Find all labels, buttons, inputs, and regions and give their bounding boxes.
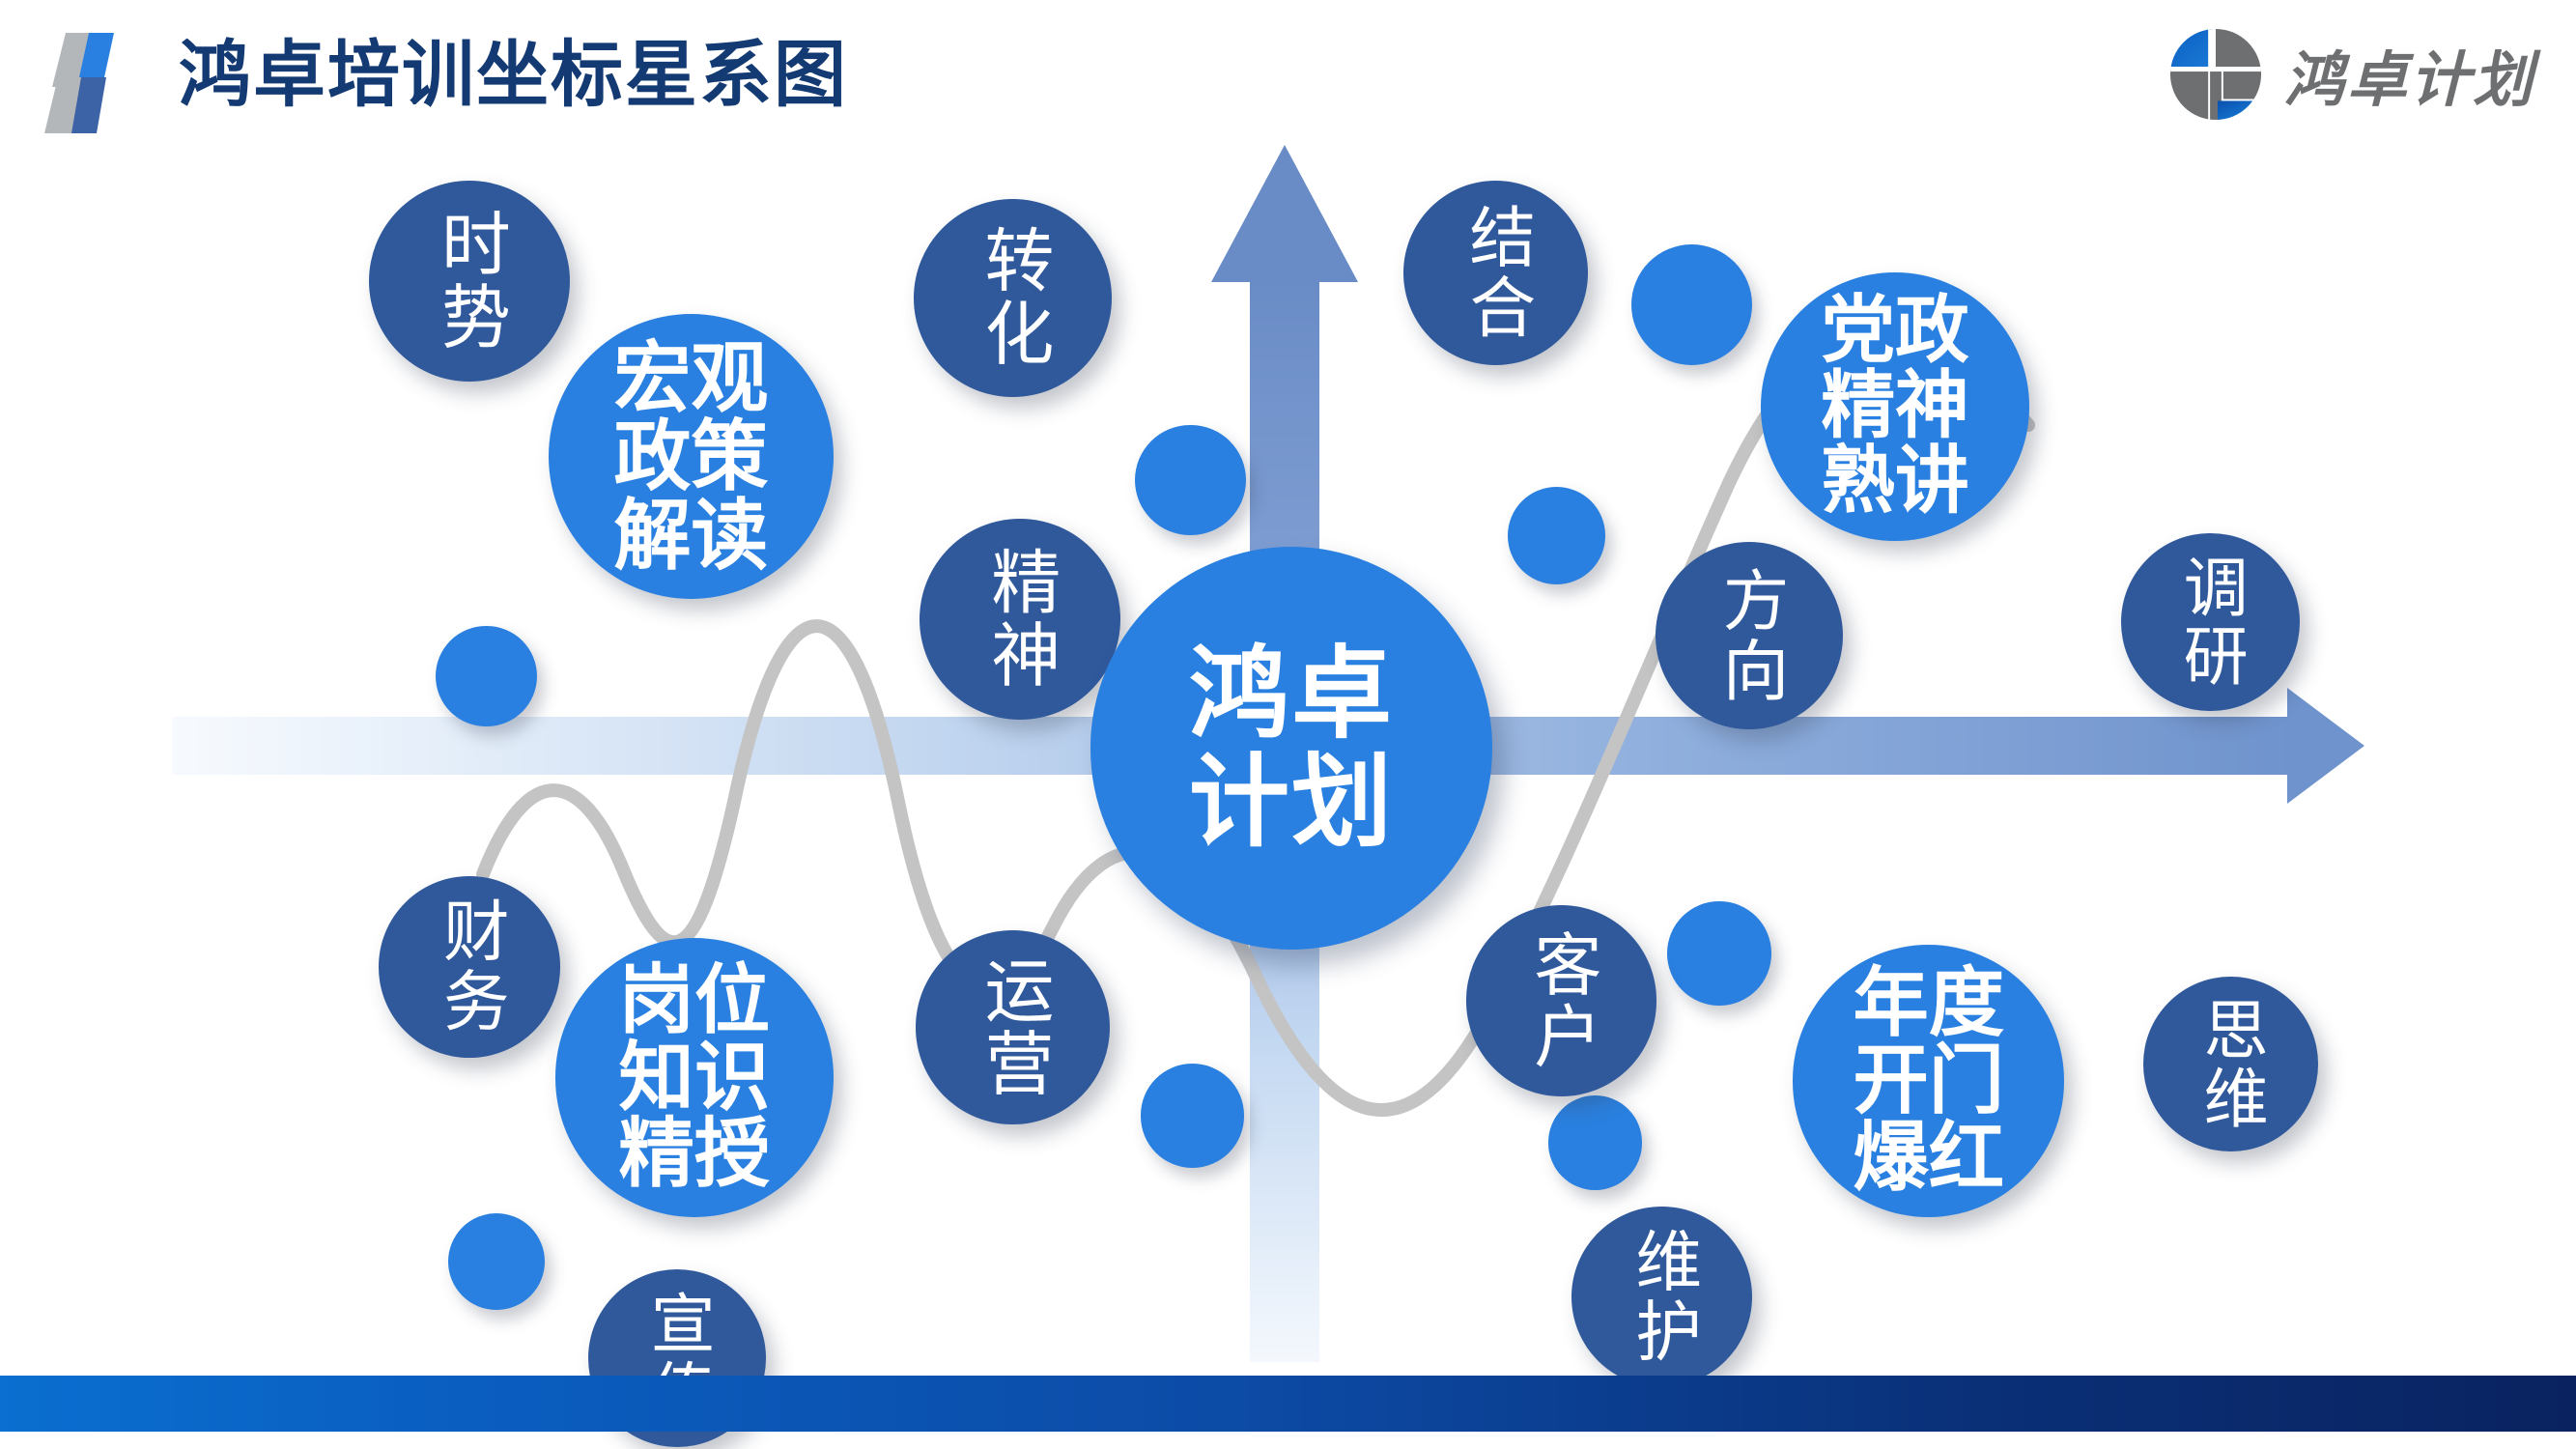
node-label: 财务 (436, 896, 503, 1037)
node-label: 维护 (1628, 1227, 1696, 1367)
node-label: 岗位知识精授 (619, 962, 771, 1194)
node-label: 结合 (1462, 203, 1530, 343)
node-7[interactable]: 方向 (1656, 542, 1843, 729)
node-10[interactable]: 岗位知识精授 (555, 938, 834, 1216)
node-3[interactable]: 转化 (914, 199, 1112, 397)
center-hub-label: 鸿卓计划 (1189, 639, 1394, 857)
node-5[interactable]: 结合 (1403, 181, 1588, 365)
accent-dot (448, 1213, 546, 1311)
slide-canvas: 鸿卓培训坐标星系图 鸿卓计划 (0, 0, 2576, 1449)
node-label: 时势 (435, 208, 505, 355)
accent-dot (1141, 1064, 1245, 1168)
node-label: 宏观政策解读 (613, 339, 768, 575)
accent-dot (1631, 244, 1752, 365)
node-label: 转化 (977, 224, 1048, 371)
node-label: 思维 (2197, 996, 2263, 1133)
node-6[interactable]: 党政精神熟讲 (1761, 272, 2029, 541)
node-14[interactable]: 思维 (2143, 977, 2318, 1151)
node-11[interactable]: 运营 (916, 930, 1110, 1124)
node-label: 运营 (977, 954, 1048, 1101)
node-1[interactable]: 时势 (369, 181, 570, 382)
node-label: 年度开门爆红 (1853, 965, 2004, 1197)
node-13[interactable]: 年度开门爆红 (1793, 945, 2064, 1216)
node-15[interactable]: 维护 (1571, 1207, 1753, 1388)
accent-dot (1548, 1095, 1642, 1189)
center-hub-node[interactable]: 鸿卓计划 (1090, 547, 1493, 950)
accent-dot (1667, 901, 1771, 1006)
node-9[interactable]: 财务 (379, 876, 560, 1058)
node-12[interactable]: 客户 (1466, 905, 1657, 1096)
node-label: 党政精神熟讲 (1821, 294, 1968, 521)
node-4[interactable]: 精神 (920, 519, 1120, 720)
accent-dot (1508, 487, 1605, 584)
node-label: 调研 (2177, 554, 2243, 691)
accent-dot (1135, 425, 1246, 536)
node-2[interactable]: 宏观政策解读 (549, 314, 834, 599)
node-label: 方向 (1715, 566, 1783, 706)
node-label: 精神 (984, 546, 1055, 693)
accent-dot (436, 626, 536, 726)
node-label: 客户 (1527, 929, 1597, 1073)
bottom-accent-bar (0, 1376, 2576, 1432)
node-8[interactable]: 调研 (2121, 533, 2299, 711)
